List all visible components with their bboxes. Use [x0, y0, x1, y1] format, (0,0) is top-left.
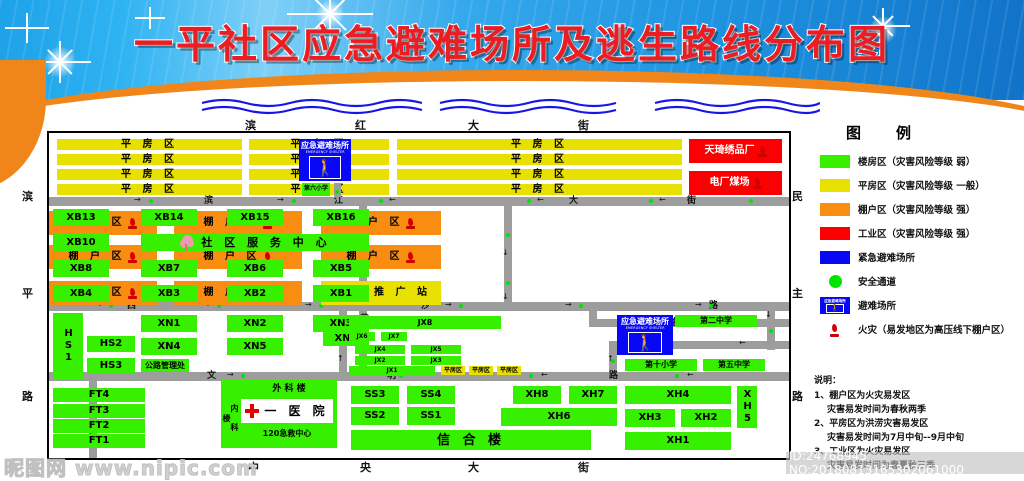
block-xh2: XH2 — [681, 409, 731, 427]
block-jx8: JX8 — [349, 316, 501, 329]
block-xb15: XB15 — [227, 209, 283, 226]
block-xb10: XB10 — [53, 234, 109, 251]
legend-panel: 图 例 楼房区（灾害风险等级 弱） 平房区（灾害风险等级 一般） 棚户区（灾害风… — [812, 122, 1020, 341]
left-road-label-1: 滨 — [22, 188, 33, 204]
running-person-icon: 🚶 — [635, 335, 655, 351]
legend-label: 避难场所 — [858, 298, 896, 312]
block-ft1: FT1 — [53, 434, 145, 448]
note-title: 1、棚户区为火灾易发区 — [814, 390, 1022, 404]
legend-label: 棚户区（灾害风险等级 强） — [858, 202, 975, 216]
school-label-no10: 第十小学 — [625, 359, 697, 371]
notes-heading: 说明： — [814, 375, 1022, 389]
block-jx7: JX7 — [381, 332, 407, 341]
legend-item-shelter-sign: 应急避难场所 🚶 避难场所 — [812, 293, 1020, 317]
emergency-shelter-sign[interactable]: 应急避难场所 EMERGENCY SHELTER 🚶 — [617, 315, 673, 355]
legend-item-emergency-shelter: 紧急避难场所 — [812, 245, 1020, 269]
block-jx1: JX1 — [349, 366, 435, 376]
bottom-wave-decoration — [0, 451, 1024, 481]
shelter-pictogram: 🚶 — [628, 332, 662, 353]
poster-root: 一平社区应急避难场所及逃生路线分布图 滨 红 大 街 滨 平 路 民 主 路 中… — [0, 0, 1024, 481]
block-ss3: SS3 — [351, 386, 399, 404]
legend-item-loufangqu: 楼房区（灾害风险等级 弱） — [812, 149, 1020, 173]
block-xb14: XB14 — [141, 209, 197, 226]
legend-swatch-green-circle — [829, 275, 842, 288]
legend-item-safe-passage: 安全通道 — [812, 269, 1020, 293]
legend-label: 紧急避难场所 — [858, 250, 915, 264]
legend-label: 工业区（灾害风险等级 强） — [858, 226, 975, 240]
block-jx2: JX2 — [355, 356, 405, 365]
block-jx-pingfang: 平房区 — [441, 366, 465, 375]
legend-title: 图 例 — [812, 122, 1020, 143]
legend-label: 安全通道 — [858, 274, 896, 288]
right-road-label-2: 主 — [792, 285, 803, 301]
school-label-no5: 第五中学 — [703, 359, 765, 371]
hospital-internal-label: 内 科 楼 — [223, 397, 237, 439]
block-hs1: HS1 — [53, 313, 83, 379]
community-center-label: 社 区 服 务 中 心 — [201, 237, 330, 248]
legend-item-fire: 火灾（易发地区为高压线下棚户区） — [812, 317, 1020, 341]
page-title: 一平社区应急避难场所及逃生路线分布图 — [0, 14, 1024, 70]
block-jx4: JX4 — [355, 345, 405, 354]
block-xb13: XB13 — [53, 209, 109, 226]
legend-item-pingfangqu: 平房区（灾害风险等级 一般） — [812, 173, 1020, 197]
block-ft4: FT4 — [53, 388, 145, 402]
tree-icon — [179, 235, 195, 251]
block-ft2: FT2 — [53, 419, 145, 433]
map-content-layer: XB13 XB14 XB15 XB16 XB10 社 区 服 务 中 心 XB8… — [49, 133, 785, 454]
note-item: 2、平房区为洪涝灾害易发区 灾害易发时间为7月中旬--9月中旬 — [814, 418, 1022, 446]
block-xn5: XN5 — [227, 338, 283, 355]
block-ft3: FT3 — [53, 404, 145, 418]
right-road-label-1: 民 — [792, 188, 803, 204]
legend-swatch-red — [820, 227, 850, 240]
block-xh1: XH1 — [625, 432, 731, 450]
block-xb1: XB1 — [313, 285, 369, 302]
legend-shelter-icon: 应急避难场所 🚶 — [820, 297, 850, 314]
orange-corner — [0, 60, 46, 190]
block-xn4: XN4 — [141, 338, 197, 355]
block-ss4: SS4 — [407, 386, 455, 404]
block-jx-pingfang: 平房区 — [497, 366, 521, 375]
legend-label: 平房区（灾害风险等级 一般） — [858, 178, 985, 192]
block-xh4: XH4 — [625, 386, 731, 404]
block-xh5: XH5 — [737, 386, 757, 428]
legend-label: 火灾（易发地区为高压线下棚户区） — [858, 322, 1010, 336]
block-xh6: XH6 — [501, 408, 617, 426]
block-xb3: XB3 — [141, 285, 197, 302]
block-hs3: HS3 — [87, 358, 135, 374]
block-xh3: XH3 — [625, 409, 675, 427]
block-jx3: JX3 — [411, 356, 461, 365]
block-jx5: JX5 — [411, 345, 461, 354]
block-xb2: XB2 — [227, 285, 283, 302]
block-xb7: XB7 — [141, 260, 197, 277]
shelter-subtitle: EMERGENCY SHELTER — [626, 327, 665, 330]
legend-item-gongyequ: 工业区（灾害风险等级 强） — [812, 221, 1020, 245]
block-jx-pingfang: 平房区 — [469, 366, 493, 375]
note-title: 2、平房区为洪涝灾害易发区 — [814, 418, 1022, 432]
block-xn2: XN2 — [227, 315, 283, 332]
school-label-no2: 第二中学 — [675, 315, 757, 327]
river-decoration — [200, 96, 820, 118]
block-xinhe-building: 信 合 楼 — [351, 430, 591, 450]
legend-swatch-yellow — [820, 179, 850, 192]
block-highway-office: 公路管理处 — [141, 359, 189, 372]
running-person-icon: 🚶 — [831, 305, 840, 312]
block-xb16: XB16 — [313, 209, 369, 226]
block-xb8: XB8 — [53, 260, 109, 277]
red-cross-icon — [245, 404, 259, 418]
left-road-label-3: 路 — [22, 388, 33, 404]
block-xh7: XH7 — [569, 386, 617, 404]
note-detail: 灾害易发时间为7月中旬--9月中旬 — [814, 432, 1022, 446]
note-detail: 灾害易发时间为春秋两季 — [814, 404, 1022, 418]
right-road-label-3: 路 — [792, 388, 803, 404]
block-xb5: XB5 — [313, 260, 369, 277]
shelter-title: 应急避难场所 — [824, 300, 846, 304]
left-road-label-2: 平 — [22, 285, 33, 301]
shelter-title: 应急避难场所 — [621, 318, 669, 326]
legend-swatch-orange — [820, 203, 850, 216]
hospital-surgery-label: 外 科 楼 — [245, 383, 333, 395]
fire-icon — [830, 324, 841, 337]
block-community-center: 社 区 服 务 中 心 — [141, 234, 369, 251]
block-hs2: HS2 — [87, 336, 135, 352]
block-xb4: XB4 — [53, 285, 109, 302]
legend-label: 楼房区（灾害风险等级 弱） — [858, 154, 975, 168]
hospital-name: 一 医 院 — [241, 399, 333, 423]
block-ss1: SS1 — [407, 407, 455, 425]
legend-swatch-green — [820, 155, 850, 168]
block-xb6: XB6 — [227, 260, 283, 277]
legend-item-penghuqu: 棚户区（灾害风险等级 强） — [812, 197, 1020, 221]
block-xh8: XH8 — [513, 386, 561, 404]
note-item: 1、棚户区为火灾易发区 灾害易发时间为春秋两季 — [814, 390, 1022, 418]
block-jx6: JX6 — [349, 332, 375, 341]
legend-fire-icon — [820, 320, 850, 339]
block-ss2: SS2 — [351, 407, 399, 425]
hospital-emergency-label: 120急救中心 — [241, 427, 333, 441]
legend-swatch-blue — [820, 251, 850, 264]
block-xn1: XN1 — [141, 315, 197, 332]
